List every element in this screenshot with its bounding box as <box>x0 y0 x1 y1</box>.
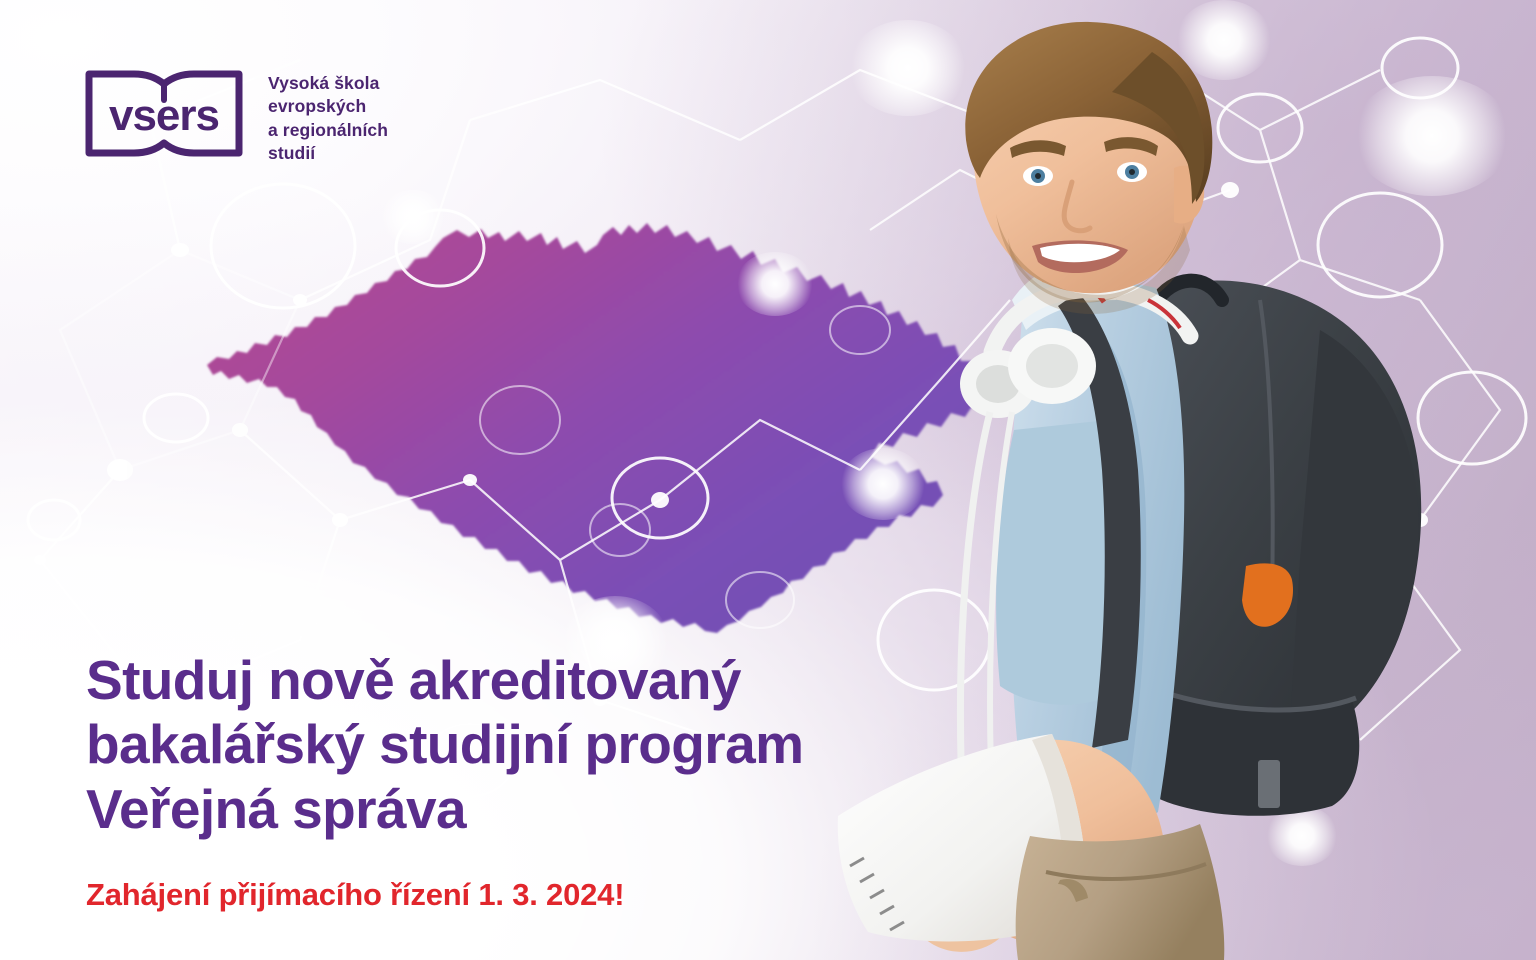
poster-root: vsers Vysoká škola evropských a regionál… <box>0 0 1536 960</box>
admissions-date-note: Zahájení přijímacího řízení 1. 3. 2024! <box>86 877 916 913</box>
page-title: Studuj nově akreditovaný bakalářský stud… <box>86 648 916 841</box>
brand-logo[interactable]: vsers Vysoká škola evropských a regionál… <box>82 62 388 165</box>
svg-text:vsers: vsers <box>109 91 219 140</box>
czech-republic-map <box>185 175 1005 645</box>
brand-tagline: Vysoká škola evropských a regionálních s… <box>268 62 388 165</box>
open-book-icon: vsers <box>82 62 246 162</box>
copy-block: Studuj nově akreditovaný bakalářský stud… <box>86 648 916 913</box>
